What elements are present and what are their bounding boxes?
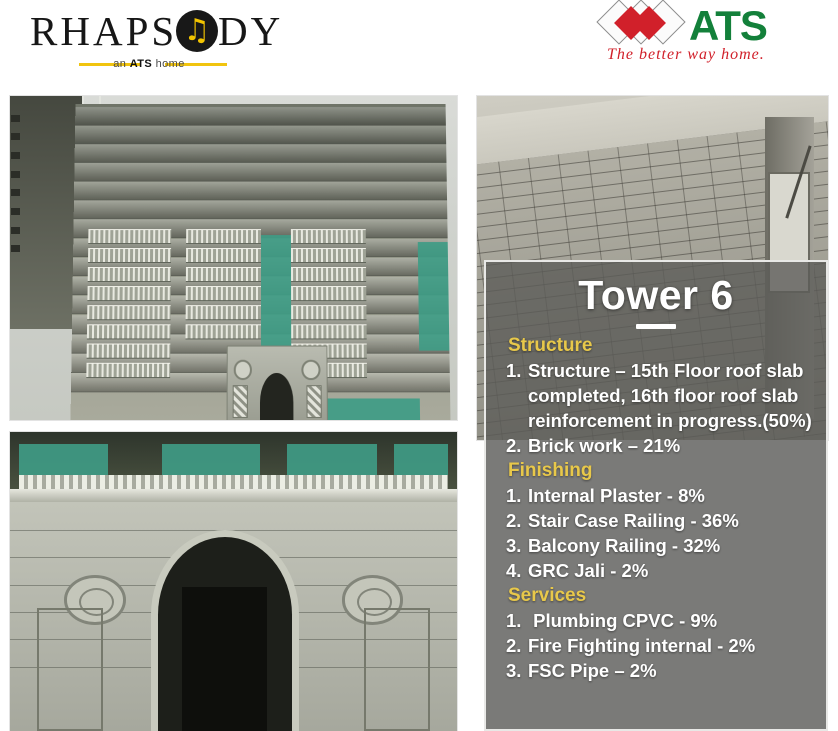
slide-header: RHAPS ♫ DY an ATS home ATS The better wa… (0, 0, 838, 92)
section-list-structure: 1.Structure – 15th Floor roof slab compl… (500, 358, 812, 458)
list-item: 2.Brick work – 21% (506, 433, 812, 458)
section-heading-services: Services (508, 585, 812, 607)
tagline-brand: ATS (130, 58, 152, 70)
rhapsody-name-left: RHAPS (30, 8, 177, 54)
title-divider (636, 324, 676, 329)
list-item-number: 2. (506, 433, 528, 458)
music-note-icon: ♫ (176, 10, 218, 52)
entrance-archway-photo (10, 432, 457, 731)
medallion (233, 360, 252, 380)
slide-root: RHAPS ♫ DY an ATS home ATS The better wa… (0, 0, 838, 731)
list-item-text: Plumbing CPVC - 9% (528, 610, 717, 631)
rhapsody-tagline-row: an ATS home (24, 54, 274, 74)
list-item-text: GRC Jali - 2% (528, 560, 648, 581)
ats-diamond-mark-icon (601, 4, 697, 52)
section-heading-finishing: Finishing (508, 460, 812, 482)
rhapsody-logo: RHAPS ♫ DY an ATS home (24, 4, 274, 80)
music-note-glyph: ♫ (176, 10, 218, 52)
tagline-suffix: home (152, 58, 185, 70)
list-item-text: Balcony Railing - 32% (528, 535, 720, 556)
entrance-portico (226, 346, 327, 420)
panel-content: Tower 6 Structure 1.Structure – 15th Flo… (486, 262, 826, 683)
list-item-text: FSC Pipe – 2% (528, 660, 657, 681)
safety-netting (418, 242, 450, 351)
section-heading-structure: Structure (508, 335, 812, 357)
list-item: 1.Internal Plaster - 8% (506, 483, 812, 508)
list-item: 3.FSC Pipe – 2% (506, 658, 812, 683)
list-item: 3.Balcony Railing - 32% (506, 533, 812, 558)
tower-structure (70, 105, 450, 420)
list-item: 1.Structure – 15th Floor roof slab compl… (506, 358, 812, 433)
section-list-finishing: 1.Internal Plaster - 8% 2.Stair Case Rai… (500, 483, 812, 583)
tower-exterior-photo (10, 96, 457, 420)
list-item-number: 4. (506, 558, 528, 583)
tagline-prefix: an (113, 58, 130, 70)
rhapsody-name-right: DY (218, 8, 283, 54)
entrance-arch (260, 373, 294, 420)
list-item-text: Internal Plaster - 8% (528, 485, 705, 506)
list-item-text: Fire Fighting internal - 2% (528, 635, 755, 656)
rhapsody-tagline: an ATS home (24, 54, 274, 74)
grc-jali-panel (364, 608, 431, 731)
list-item: 2.Stair Case Railing - 36% (506, 508, 812, 533)
grc-jali-panel (37, 608, 104, 731)
page-title: Tower 6 (500, 270, 812, 320)
ats-tagline: The better way home. (607, 46, 817, 64)
ats-wordmark: ATS (689, 2, 767, 50)
entrance-opening (182, 587, 268, 731)
tower-progress-panel: Tower 6 Structure 1.Structure – 15th Flo… (484, 260, 828, 731)
list-item-number: 2. (506, 633, 528, 658)
list-item-text: Brick work – 21% (528, 435, 680, 456)
list-item-number: 2. (506, 508, 528, 533)
list-item-text: Stair Case Railing - 36% (528, 510, 739, 531)
entrance-arch (158, 537, 292, 731)
list-item-number: 3. (506, 533, 528, 558)
list-item: 1. Plumbing CPVC - 9% (506, 608, 812, 633)
list-item: 4.GRC Jali - 2% (506, 558, 812, 583)
list-item: 2.Fire Fighting internal - 2% (506, 633, 812, 658)
list-item-number: 3. (506, 658, 528, 683)
list-item-text: Structure – 15th Floor roof slab complet… (528, 360, 812, 431)
section-list-services: 1. Plumbing CPVC - 9% 2.Fire Fighting in… (500, 608, 812, 683)
ats-logo: ATS The better way home. (601, 2, 816, 76)
list-item-number: 1. (506, 358, 528, 383)
grc-jali-panel (232, 386, 247, 418)
list-item-number: 1. (506, 483, 528, 508)
adjacent-building (10, 96, 82, 329)
grc-jali-panel (306, 386, 321, 418)
list-item-number: 1. (506, 608, 528, 633)
medallion (301, 360, 320, 380)
